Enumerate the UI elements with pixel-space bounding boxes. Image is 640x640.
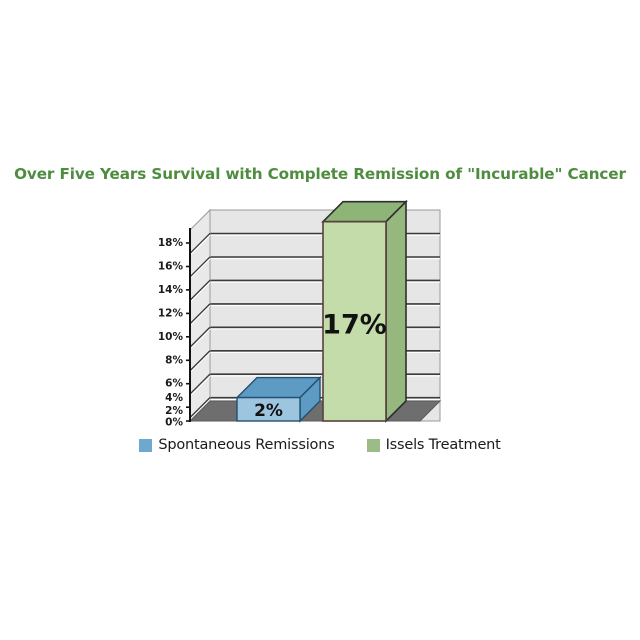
- legend-swatch-icon: [367, 439, 380, 452]
- legend-item-issels-treatment[interactable]: Issels Treatment: [367, 437, 501, 453]
- bar-side-face: [386, 202, 406, 421]
- y-axis-tick-labels: 18% 16% 14% 12% 10% 8% 6% 4% 2% 0%: [158, 237, 184, 429]
- legend-swatch-icon: [139, 439, 152, 452]
- y-tick-8: 8%: [165, 354, 183, 366]
- chart-title: Over Five Years Survival with Complete R…: [0, 165, 640, 183]
- y-tick-0: 0%: [165, 417, 183, 429]
- y-tick-10: 10%: [158, 331, 184, 343]
- bar-chart-plot: 18% 16% 14% 12% 10% 8% 6% 4% 2% 0% 2%: [0, 195, 640, 435]
- y-tick-2: 2%: [165, 405, 183, 417]
- y-axis: [186, 228, 190, 422]
- y-tick-16: 16%: [158, 261, 184, 273]
- legend-label-issels-treatment: Issels Treatment: [386, 437, 501, 453]
- bar-label-issels-treatment: 17%: [322, 310, 387, 341]
- y-tick-12: 12%: [158, 307, 184, 319]
- legend-label-spontaneous-remissions: Spontaneous Remissions: [158, 437, 334, 453]
- bar-label-spontaneous-remissions: 2%: [254, 401, 283, 421]
- chart-legend: Spontaneous Remissions Issels Treatment: [0, 437, 640, 453]
- y-tick-14: 14%: [158, 284, 184, 296]
- bar-issels-treatment[interactable]: 17%: [322, 202, 406, 421]
- y-tick-4: 4%: [165, 392, 183, 404]
- chart-figure: Over Five Years Survival with Complete R…: [0, 0, 640, 640]
- y-tick-18: 18%: [158, 237, 184, 249]
- y-tick-6: 6%: [165, 378, 183, 390]
- legend-item-spontaneous-remissions[interactable]: Spontaneous Remissions: [139, 437, 334, 453]
- chart-left-wall: [190, 210, 210, 421]
